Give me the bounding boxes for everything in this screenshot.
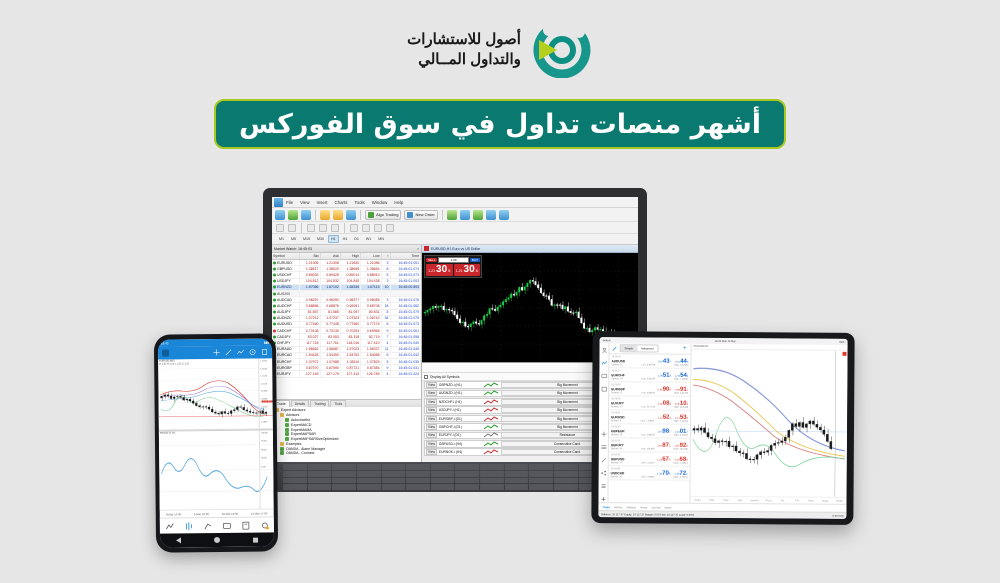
sell-price-int: 1.21	[428, 269, 435, 273]
tablet-screen: Search 18:28 Mon 26 Mar 81%	[598, 337, 847, 519]
fibonacci-rail-icon[interactable]	[600, 444, 606, 450]
keyboard-key	[505, 478, 529, 484]
keyboard-key	[455, 471, 479, 477]
add-symbol-button[interactable]: +	[683, 346, 689, 352]
vertical-line-icon[interactable]	[307, 224, 315, 232]
keyboard-key	[455, 484, 479, 490]
charts-icon[interactable]	[183, 521, 193, 531]
algo-trading-button[interactable]: Algo Trading	[365, 210, 401, 220]
tablet-status-left[interactable]: Search	[603, 339, 611, 342]
scanner-view-button[interactable]: View	[426, 407, 437, 413]
headline-text: أشهر منصات تداول في سوق الفوركس	[239, 109, 761, 140]
cell-time: 16:45:01.024	[390, 371, 421, 377]
quote-row[interactable]: 18:28:36USDCAD1.397061.39721Spread: 16Lo…	[609, 466, 690, 481]
keyboard-row	[283, 471, 627, 477]
new-order-icon[interactable]	[261, 348, 268, 355]
sell-price-big: 30	[436, 265, 447, 275]
market-watch-title: Market Watch: 16:45:03 ×	[272, 245, 421, 253]
timeframe-h4[interactable]: H4	[340, 235, 351, 243]
keyboard-key	[480, 464, 504, 470]
tree-node-label: Examples	[286, 442, 301, 446]
scanner-symbol: USDJPY-i (H1)	[439, 408, 481, 412]
tablet-quotes-list[interactable]: 18:28:34AUDUSD0.674370.67445Spread: 11Lo…	[608, 354, 690, 503]
scanner-sparkline-icon	[483, 399, 499, 405]
volume-input[interactable]: 1.00	[438, 257, 468, 263]
quote-low: Low: 117.145	[641, 406, 655, 408]
quote-row[interactable]: 18:28:26EURGBP0.909060.90917Spread: 11Lo…	[609, 382, 690, 397]
tab-col-symbol: Symbol	[747, 499, 761, 502]
keyboard-key	[505, 471, 529, 477]
scanner-view-button[interactable]: View	[426, 382, 437, 388]
quote-row[interactable]: 18:28:35GBPJPY129.875129.920Spread: 43Lo…	[609, 438, 690, 453]
time-tick: 8 Mar 14:00	[166, 512, 181, 516]
keyboard-key	[308, 478, 332, 484]
scanner-symbol: NZDCHF-i (H1)	[439, 400, 481, 404]
navigator-icon[interactable]	[320, 210, 330, 220]
keyboard-key	[406, 464, 430, 470]
quote-row[interactable]: 18:28:35EURJPY118.084118.101Spread: 13Lo…	[609, 396, 690, 411]
axis-tick: 1.2120	[259, 383, 272, 385]
cell-excl: 4	[381, 371, 390, 377]
zoom-in-icon[interactable]	[486, 210, 496, 220]
axis-tick: 30.00	[260, 458, 273, 460]
scanner-view-button[interactable]: View	[426, 390, 437, 396]
tree-node-label: ExpertMAPSARSizeOptimized	[291, 437, 338, 441]
keyboard-row	[283, 464, 627, 470]
tab-col-swap: Swap	[818, 499, 832, 502]
horizontal-line-icon[interactable]	[319, 224, 327, 232]
phone-current-price-tag: 1.21 305	[262, 400, 273, 402]
quote-spread: Spread: 14	[611, 462, 622, 464]
close-icon[interactable]: ×	[417, 247, 421, 251]
segment-simple[interactable]: Simple	[621, 345, 638, 351]
axis-tick: 50.00	[260, 449, 273, 451]
tablet-tab-alerts[interactable]: Alerts	[664, 505, 671, 509]
keyboard-key	[308, 464, 332, 470]
scanner-view-button[interactable]: View	[426, 399, 437, 405]
laptop-keyboard	[277, 462, 633, 492]
scanner-sparkline-icon	[483, 390, 499, 396]
quote-symbol: USDCAD	[611, 471, 625, 475]
brand-name-line2: والتداول المــالي	[407, 50, 521, 70]
new-chart-icon[interactable]	[275, 210, 285, 220]
keyboard-key	[382, 464, 406, 470]
quote-low: Low: 1.06375	[641, 378, 655, 380]
quotes-rail-icon[interactable]	[601, 360, 607, 366]
line-chart-icon[interactable]	[473, 210, 483, 220]
keyboard-key	[357, 478, 381, 484]
timeframe-m5[interactable]: M5	[288, 235, 299, 243]
tree-node-label: ExpertMACD	[291, 423, 311, 427]
brand-header: أصول للاستشارات والتداول المــالي	[0, 22, 1000, 78]
quote-high: High: 1.24014	[673, 463, 687, 465]
axis-tick: 70.00	[260, 441, 273, 443]
keyboard-row	[283, 484, 627, 490]
scanner-symbol: GBPNZD-i (H1)	[439, 383, 481, 387]
keyboard-key	[332, 484, 356, 490]
profiles-icon[interactable]	[288, 210, 298, 220]
fibonacci-icon[interactable]	[350, 224, 358, 232]
cursor-icon[interactable]	[276, 224, 284, 232]
tree-node-label: OANDA - Alarm Manager	[286, 447, 325, 451]
quote-bid: 0.90906	[658, 387, 671, 393]
menu-item-help[interactable]: Help	[394, 200, 403, 205]
account-icon[interactable]	[601, 347, 607, 353]
terminal-icon[interactable]	[333, 210, 343, 220]
quote-symbol: EURJPY	[611, 401, 624, 405]
trendline-icon[interactable]	[225, 349, 232, 356]
navigator-tree[interactable]: Expert AdvisorsAdvisorsAutochartIstExper…	[272, 407, 421, 462]
buy-price-int: 1.21	[456, 269, 463, 273]
phone-indicator-label: RSI(14) 51.94	[160, 431, 175, 434]
expert-advisor-icon	[285, 432, 289, 436]
tab-col-order: Order	[690, 498, 704, 501]
phone-price-chart[interactable]: EURUSD,M15 O 1.21 H 1.21 L 1.21 C 1.21 1…	[158, 358, 273, 430]
menu-item-file[interactable]: File	[286, 200, 293, 205]
tab-col-price2: Price	[804, 499, 818, 502]
axis-tick: 1.2135	[259, 376, 272, 378]
quote-row[interactable]: 18:28:30GBPEUR1.009871.10017Spread: 30Lo…	[609, 424, 690, 439]
tablet-price-chart[interactable]	[691, 350, 848, 497]
tree-node-label: ExpertMAPSAR	[291, 432, 316, 436]
tablet-balance-bar: Balance: 10 117.37 Equity: 10 117.37 Mar…	[598, 510, 846, 519]
keyboard-key	[554, 471, 578, 477]
quotes-icon[interactable]	[164, 521, 174, 531]
new-order-label: New Order	[415, 212, 434, 217]
scanner-view-button[interactable]: View	[426, 441, 437, 447]
axis-tick: 1.2045	[260, 421, 273, 423]
news-icon[interactable]	[240, 520, 250, 530]
quote-spread: Spread: 11	[611, 364, 622, 366]
tablet-tab-trade[interactable]: Trade	[602, 505, 609, 509]
quote-bid: 1.22673	[657, 457, 670, 463]
market-watch-table: Symbol Bid Ask High Low ! Time EURUSD1.2…	[272, 253, 421, 378]
quote-bid: 1.11524	[658, 415, 671, 421]
timeframe-d1[interactable]: D1	[351, 235, 362, 243]
share-icon[interactable]	[600, 470, 606, 476]
keyboard-key	[406, 471, 430, 477]
scanner-symbol: EURNOK-i (H4)	[439, 450, 481, 454]
keyboard-key	[529, 484, 553, 490]
timeframe-m30[interactable]: M30	[314, 235, 327, 243]
tree-node-label: Advisors	[286, 413, 299, 417]
keyboard-key	[357, 464, 381, 470]
phone-app-bar	[158, 345, 272, 359]
keyboard-key	[505, 484, 529, 490]
quote-high: High: 1.12302	[674, 421, 688, 423]
cell-low: 126.789	[361, 371, 381, 377]
arrow-icon[interactable]	[386, 224, 394, 232]
keyboard-key	[308, 471, 332, 477]
keyboard-key	[283, 478, 307, 484]
scanner-sparkline-icon	[483, 441, 499, 447]
phone-rsi-svg	[159, 430, 274, 509]
cell-bid: 127.149	[300, 371, 320, 377]
axis-tick: 1.2150	[259, 368, 272, 370]
axis-tick: 0.00	[260, 466, 273, 468]
cell-high: 127.412	[340, 371, 360, 377]
new-order-button[interactable]: New Order	[404, 210, 437, 220]
quote-bid: 0.67437	[658, 359, 671, 365]
quote-spread: Spread: 23	[611, 378, 622, 380]
scanner-symbol: GBPCHF-i (D1)	[439, 425, 481, 429]
keyboard-key	[357, 471, 381, 477]
mt-line-studies-toolbar	[272, 222, 638, 234]
quote-high: High: 1.06841	[674, 379, 688, 381]
tablet-tab-news[interactable]: News	[640, 505, 647, 509]
scanner-sparkline-icon	[483, 449, 499, 455]
timeframe-clock-icon[interactable]	[249, 349, 256, 356]
timeframe-h1[interactable]: H1	[328, 235, 339, 243]
settings-icon[interactable]	[259, 520, 269, 530]
algo-trading-icon	[368, 212, 374, 218]
keyboard-key	[554, 464, 578, 470]
table-row[interactable]: EURJPY127.149127.175127.412126.789416:45…	[272, 371, 421, 377]
timeframe-mn[interactable]: MN	[375, 235, 387, 243]
tree-node[interactable]: OANDA - Connect	[272, 451, 421, 456]
close-chart-icon[interactable]	[843, 352, 847, 356]
tab-col-price: Price	[761, 499, 775, 502]
tab-col-type: Type	[719, 498, 733, 501]
quote-high: High: 132.486	[674, 449, 688, 451]
buy-price-button[interactable]: 1.21 30 8	[454, 264, 481, 276]
quote-high: High: 1.40112	[674, 477, 688, 479]
oct-controls: SELL 1.00 BUY	[426, 257, 480, 263]
mt-timeframe-bar: M1 M5 M15 M30 H1 H4 D1 W1 MN	[272, 234, 638, 245]
trendline-icon[interactable]	[331, 224, 339, 232]
tablet-tab-mailbox[interactable]: Mailbox	[627, 505, 637, 509]
scanner-view-button[interactable]: View	[426, 449, 437, 455]
scanner-symbol: GBPUSD-i (H4)	[439, 442, 481, 446]
toolbar-separator	[344, 223, 345, 233]
buy-price-sup: 8	[476, 268, 478, 273]
keyboard-key	[332, 478, 356, 484]
metatrader-icon	[274, 198, 283, 207]
quote-spread: Spread: 16	[611, 476, 622, 478]
timeframe-w1[interactable]: W1	[363, 235, 374, 243]
axis-tick: 100.00	[260, 432, 273, 434]
toolbar-separator	[301, 223, 302, 233]
menu-item-insert[interactable]: Insert	[317, 200, 328, 205]
time-tick: 10 Mar 16:00	[222, 511, 239, 515]
expert-advisor-icon	[285, 418, 289, 422]
scanner-view-button[interactable]: View	[426, 432, 437, 438]
tab-col-time: Time	[705, 498, 719, 501]
back-button[interactable]	[176, 537, 181, 543]
quote-low: Low: 128.687	[641, 448, 655, 450]
market-watch-scroll[interactable]: Symbol Bid Ask High Low ! Time EURUSD1.2…	[272, 253, 421, 399]
keyboard-key	[455, 478, 479, 484]
keyboard-key	[332, 471, 356, 477]
view-mode-segmented[interactable]: Simple Advanced	[620, 344, 659, 352]
quote-high: High: 0.62960	[674, 365, 688, 367]
tablet-status-date: Mon 26 Mar	[722, 339, 736, 342]
quote-symbol: GBPEUR	[611, 429, 625, 433]
quote-low: Low: 1.38602	[641, 476, 655, 478]
edit-icon[interactable]	[612, 345, 618, 351]
quote-high: High: 0.91326	[674, 393, 688, 395]
chat-icon[interactable]	[601, 373, 607, 379]
keyboard-key	[431, 484, 455, 490]
chart-title-label: EURUSD,H1 Euro vs US Dollar	[431, 247, 480, 251]
keyboard-key	[382, 471, 406, 477]
quote-bid: 129.875	[657, 443, 670, 449]
keyboard-key	[406, 484, 430, 490]
strategy-tester-icon[interactable]	[346, 210, 356, 220]
market-watch-body: EURUSD1.213051.213081.216401.21086316:45…	[272, 260, 421, 378]
brand-name-line1: أصول للاستشارات	[407, 30, 521, 50]
scanner-sparkline-icon	[483, 416, 499, 422]
keyboard-key	[554, 484, 578, 490]
scanner-view-button[interactable]: View	[426, 424, 437, 430]
quote-symbol: GBPUSD	[611, 457, 625, 461]
segment-advanced[interactable]: Advanced	[637, 345, 657, 351]
one-click-trading-panel[interactable]: SELL 1.00 BUY 1.21 30 5	[424, 255, 482, 278]
tablet-tab-history[interactable]: History	[614, 505, 623, 509]
sell-label[interactable]: SELL	[426, 258, 437, 262]
keyboard-key	[505, 464, 529, 470]
scanner-symbol: EURJPY-i (D1)	[439, 433, 481, 437]
display-all-checkbox[interactable]	[424, 375, 428, 379]
keyboard-key	[406, 478, 430, 484]
crosshair-icon[interactable]	[213, 349, 220, 356]
tablet-status-center: 18:28 Mon 26 Mar	[715, 339, 736, 342]
channel-icon[interactable]	[362, 224, 370, 232]
keyboard-key	[431, 478, 455, 484]
tablet-pl-values: 0.00 0.00	[833, 514, 844, 517]
toolbar-separator	[442, 210, 443, 220]
laptop-screen: File View Insert Charts Tools Window Hel…	[272, 197, 638, 462]
quote-bid: 1.06519	[658, 373, 671, 379]
text-label-icon[interactable]	[374, 224, 382, 232]
chart-symbol-icon	[424, 246, 429, 251]
keyboard-key	[455, 464, 479, 470]
keyboard-key	[480, 484, 504, 490]
mt-menu-bar: File View Insert Charts Tools Window Hel…	[272, 197, 638, 208]
market-watch-icon[interactable]	[301, 210, 311, 220]
keyboard-key	[554, 478, 578, 484]
tablet-status-time: 18:28	[715, 339, 722, 342]
quote-symbol: GBPJPY	[611, 443, 624, 447]
keyboard-key	[529, 478, 553, 484]
bar-chart-icon[interactable]	[447, 210, 457, 220]
scanner-sparkline-icon	[483, 382, 499, 388]
quote-symbol: EURGBP	[611, 387, 625, 391]
oct-prices: 1.21 30 5 1.21 30 8	[426, 264, 480, 276]
folder-icon	[280, 442, 284, 446]
tree-node-label: ExpertMAMA	[291, 428, 312, 432]
keyboard-key	[431, 464, 455, 470]
candle-chart-icon[interactable]	[460, 210, 470, 220]
keyboard-key	[283, 484, 307, 490]
expert-advisor-icon	[285, 437, 289, 441]
quote-spread: Spread: 8	[611, 420, 621, 422]
phone-status-icons: ▮▮▮	[264, 340, 269, 344]
terminal-tabs: Trade Details Trading Ticks	[272, 399, 421, 407]
sell-price-sup: 5	[448, 268, 450, 273]
scanner-sparkline-icon	[483, 424, 499, 430]
sell-price-button[interactable]: 1.21 30 5	[426, 264, 453, 276]
calendar-icon[interactable]	[601, 386, 607, 392]
keyboard-key	[357, 484, 381, 490]
home-button[interactable]	[214, 537, 220, 543]
tablet-tab-journal[interactable]: Journal	[651, 505, 660, 509]
trade-icon[interactable]	[202, 521, 212, 531]
trendline-rail-icon[interactable]	[600, 457, 606, 463]
phone-android-bar	[160, 532, 274, 547]
tab-col-size: Size	[733, 499, 747, 502]
quote-symbol: EURCHF	[611, 373, 624, 377]
list-icon[interactable]	[600, 483, 606, 489]
headline-banner: أشهر منصات تداول في سوق الفوركس	[214, 99, 786, 149]
timeframe-m1[interactable]: M1	[276, 235, 287, 243]
new-order-icon	[407, 212, 413, 218]
tab-col-profit: Profit	[832, 499, 846, 502]
phone-device: 16:43 ▮▮▮ EURUSD,M15 O 1.21 H 1.21 L 1.2…	[154, 333, 278, 552]
display-all-label: Display All Symbols	[430, 375, 460, 379]
phone-indicator-chart[interactable]: RSI(14) 51.94 100.0070.0050.0030.000.00	[159, 429, 274, 509]
menu-item-view[interactable]: View	[300, 200, 309, 205]
scanner-symbol: EURGBP-i (D1)	[439, 417, 481, 421]
axis-tick: 1.2075	[260, 406, 273, 408]
quote-low: Low: 0.89815	[641, 392, 655, 394]
brand-name: أصول للاستشارات والتداول المــالي	[407, 30, 521, 71]
quote-low: Low: 1.22147	[641, 462, 655, 464]
keyboard-key	[308, 484, 332, 490]
algo-trading-label: Algo Trading	[376, 212, 398, 217]
phone-chart-info: EURUSD,M15 O 1.21 H 1.21 L 1.21 C 1.21	[159, 359, 189, 366]
timeframe-m15[interactable]: M15	[300, 235, 313, 243]
quote-row[interactable]: 18:28:31EURCHF1.065191.06542Spread: 23Lo…	[609, 368, 690, 383]
tablet-quotes-header: Simple Advanced +	[610, 343, 691, 355]
time-tick: 9 Mar 10:00	[194, 512, 209, 516]
menu-item-window[interactable]: Window	[372, 200, 388, 205]
history-icon[interactable]	[221, 520, 231, 530]
app-logo-icon	[162, 349, 169, 356]
tab-col-sl: S/L	[776, 499, 790, 502]
keyboard-key	[283, 464, 307, 470]
phone-indicator-axis: 100.0070.0050.0030.000.00	[259, 430, 274, 508]
crosshair-icon[interactable]	[288, 224, 296, 232]
tree-node-label: OANDA - Connect	[286, 451, 314, 455]
menu-item-tools[interactable]: Tools	[354, 200, 364, 205]
phone-candles-svg	[158, 358, 273, 429]
tablet-candles-svg	[691, 350, 848, 497]
scanner-view-button[interactable]: View	[426, 416, 437, 422]
indicators-icon[interactable]	[237, 349, 244, 356]
expert-advisor-icon	[285, 428, 289, 432]
tablet-quotes-panel: Simple Advanced + 18:28:34AUDUSD0.674370…	[608, 343, 691, 503]
menu-item-charts[interactable]: Charts	[335, 200, 348, 205]
quote-row[interactable]: 18:28:36GBPUSD1.226731.22686Spread: 14Lo…	[609, 452, 690, 467]
tablet-device: Search 18:28 Mon 26 Mar 81%	[591, 331, 854, 525]
scanner-symbol: AUDNZD-i (H1)	[439, 391, 481, 395]
buy-price-big: 30	[464, 265, 475, 275]
crosshair-rail-icon[interactable]	[600, 431, 606, 437]
quote-row[interactable]: 18:28:34AUDUSD0.674370.67445Spread: 11Lo…	[609, 354, 690, 369]
recents-button[interactable]	[253, 537, 258, 542]
expert-advisor-icon	[280, 451, 284, 455]
quote-row[interactable]: 18:28:35EURUSD1.115241.11532Spread: 8Low…	[609, 410, 690, 425]
keyboard-row	[283, 478, 627, 484]
zoom-out-icon[interactable]	[499, 210, 509, 220]
buy-label[interactable]: BUY	[470, 258, 480, 262]
keyboard-key	[382, 484, 406, 490]
tree-node-label: Expert Advisors	[281, 408, 305, 412]
tablet-main: Simple Advanced + 18:28:34AUDUSD0.674370…	[598, 343, 847, 504]
tab-col-tp: T/P	[790, 499, 804, 502]
headline-banner-box: أشهر منصات تداول في سوق الفوركس	[214, 99, 786, 149]
